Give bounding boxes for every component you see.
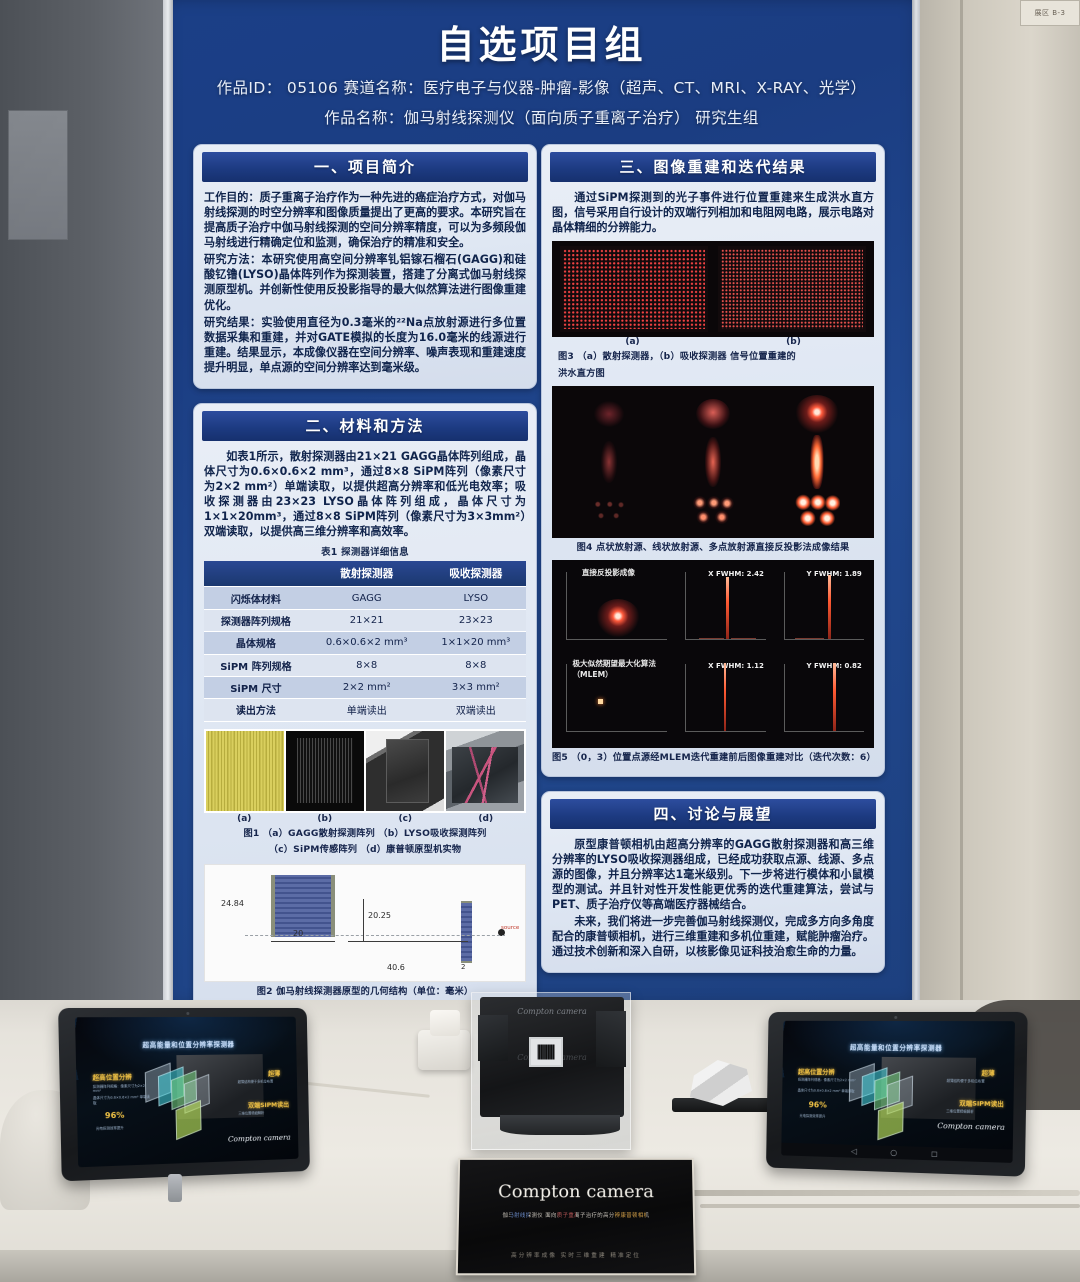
detector-window (529, 1037, 563, 1067)
detector-stack-graphic (145, 1060, 239, 1123)
th-2: 吸收探测器 (426, 561, 526, 587)
slide-label-right-bottom: 双端SiPM读出 (959, 1098, 1004, 1108)
bp-multi-high (767, 487, 868, 532)
prototype-display-case: Compton camera Compton camera (471, 992, 631, 1150)
tablet-stand-neck (168, 1174, 182, 1202)
cell-absorb: 1×1×20 mm³ (426, 632, 526, 654)
bp-x-fwhm: X FWHM: 2.42 (708, 570, 764, 578)
table-row: SiPM 尺寸 2×2 mm² 3×3 mm² (204, 676, 526, 698)
bp-x-profile-cell: X FWHM: 2.42 (675, 564, 771, 652)
section-one-p1: 工作目的：质子重离子治疗作为一种先进的癌症治疗方式，对伽马射线探测的时空分辨率和… (204, 190, 526, 250)
cell-absorb: 双端读出 (426, 699, 526, 721)
profile-peak (833, 663, 835, 731)
profile-peak (724, 663, 726, 731)
table-head: 散射探测器 吸收探测器 (204, 561, 526, 587)
panel-label-b: (b) (713, 337, 874, 347)
poster-frame-left (163, 0, 173, 1008)
camera-dot (894, 1016, 897, 1019)
section-four-heading: 四、讨论与展望 (550, 799, 876, 829)
wall-panel (8, 110, 68, 240)
figure5-row-mlem: 极大似然期望最大化算法 （MLEM） X FWHM: 1.12 (556, 656, 870, 744)
mlem-x-profile-cell: X FWHM: 1.12 (675, 656, 771, 744)
photo-sipm-array (366, 731, 444, 811)
table-row: 读出方法 单端读出 双端读出 (204, 699, 526, 721)
figure3-panel-labels: (a) (b) (552, 337, 874, 347)
poster-title: 自选项目组 (163, 14, 920, 69)
table-row: 晶体规格 0.6×0.6×2 mm³ 1×1×20 mm³ (204, 632, 526, 654)
photo-gagg-array (206, 731, 284, 811)
cell-scatter: 2×2 mm² (308, 676, 426, 698)
tablet-right[interactable]: 超高能量和位置分辨率探测器 超高位置分辨 探测器阵列规格：像素尺寸为2×2 mm… (766, 1012, 1028, 1177)
back-icon[interactable]: ◁ (851, 1147, 857, 1156)
x-axis (784, 731, 864, 732)
figure1-panel-labels: (a) (b) (c) (d) (204, 814, 526, 824)
th-0 (204, 561, 308, 587)
x-axis (685, 639, 765, 640)
x-axis (685, 731, 765, 732)
y-axis (784, 664, 785, 732)
dim-absorber-thickness: 2 (461, 963, 465, 971)
figure3-flood-histograms (552, 241, 874, 337)
dim-line-offset (363, 899, 364, 941)
panel-label-c: (c) (365, 814, 446, 824)
slide-sub-left-1: 探测器阵列规格：像素尺寸为2×2 mm² (798, 1078, 856, 1083)
section-one-p3: 研究结果：实验使用直径为0.3毫米的²²Na点放射源进行多位置数据采集和重建，并… (204, 315, 526, 375)
prototype-brand-top: Compton camera (480, 1007, 624, 1016)
cell-label: 晶体规格 (204, 632, 308, 654)
slide-sub-left-1: 探测器阵列规格：像素尺寸为2×2 mm² (93, 1083, 152, 1094)
slide-label-left: 超高位置分辨 (798, 1067, 835, 1076)
slide-percent: 96% (808, 1101, 826, 1110)
power-adapter-small (430, 1010, 460, 1036)
figure1-caption-line2: （c）SiPM传感阵列 （d）康普顿原型机实物 (204, 843, 526, 856)
slide-brand: Compton camera (937, 1121, 1005, 1132)
cell-scatter: 21×21 (308, 609, 426, 631)
bp-image-cell: 直接反投影成像 (556, 564, 673, 652)
slide-sub-left-2: 晶体尺寸为0.6×0.6×2 mm³ 单端读取 (93, 1095, 152, 1106)
slide-percent: 96% (105, 1111, 125, 1121)
table-row: 闪烁体材料 GAGG LYSO (204, 587, 526, 609)
axis-dash (245, 935, 505, 936)
figure3-caption-line2: 洪水直方图 (552, 367, 874, 380)
section-one-body: 工作目的：质子重离子治疗作为一种先进的癌症治疗方式，对伽马射线探测的时空分辨率和… (204, 190, 526, 375)
section-four-panel: 四、讨论与展望 原型康普顿相机由超高分辨率的GAGG散射探测器和高三维分辨率的L… (541, 791, 885, 974)
compton-camera-prototype: Compton camera Compton camera (480, 997, 624, 1117)
section-one-panel: 一、项目简介 工作目的：质子重离子治疗作为一种先进的癌症治疗方式，对伽马射线探测… (193, 144, 537, 389)
x-axis (566, 639, 667, 640)
slide-sub-left-2: 晶体尺寸为0.6×0.6×2 mm³ 单端读取 (798, 1088, 856, 1094)
y-axis (784, 572, 785, 640)
camera-dot (186, 1012, 189, 1015)
slide-sub-right-top: 超薄结构便于多机位布置 (947, 1078, 1005, 1084)
tablet-left[interactable]: 超高能量和位置分辨率探测器 超高位置分辨 探测器阵列规格：像素尺寸为2×2 mm… (58, 1008, 310, 1181)
profile-tail (795, 638, 824, 639)
bp-line-high (767, 440, 868, 485)
dim-distance: 40.6 (387, 963, 405, 972)
figure1-photos (204, 729, 526, 813)
bp-multi-low (558, 487, 659, 532)
table-header-row: 散射探测器 吸收探测器 (204, 561, 526, 587)
section-three-p1: 通过SiPM探测到的光子事件进行位置重建来生成洪水直方图，信号采用自行设计的双端… (552, 190, 874, 235)
slide-sub-right-bottom: 三维位置精细解析 (238, 1111, 289, 1117)
figure3-caption-line1: 图3 （a）散射探测器，（b）吸收探测器 信号位置重建的 (552, 350, 874, 363)
sipm-chip (538, 1045, 555, 1060)
table-row: SiPM 阵列规格 8×8 8×8 (204, 654, 526, 676)
detector-stack-graphic (849, 1062, 947, 1122)
section-three-panel: 三、图像重建和迭代结果 通过SiPM探测到的光子事件进行位置重建来生成洪水直方图… (541, 144, 885, 777)
poster-frame-right (912, 0, 920, 1008)
table-row: 探测器阵列规格 21×21 23×23 (204, 609, 526, 631)
cell-label: 读出方法 (204, 699, 308, 721)
detector-spec-table: 散射探测器 吸收探测器 闪烁体材料 GAGG LYSO 探测器阵列规格 21×2… (204, 561, 526, 721)
slide-label-right-top: 超薄 (981, 1068, 994, 1077)
bp-line-mid (662, 440, 763, 485)
bp-point-image (596, 599, 640, 637)
nameplate-title: Compton camera (459, 1181, 692, 1202)
section-two-panel: 二、材料和方法 如表1所示，散射探测器由21×21 GAGG晶体阵列组成，晶体尺… (193, 403, 537, 1077)
poster-board: 自选项目组 作品ID： 05106 赛道名称：医疗电子与仪器-肿瘤-影像（超声、… (163, 0, 920, 1008)
cell-scatter: 8×8 (308, 654, 426, 676)
y-axis (685, 572, 686, 640)
section-four-p2: 未来，我们将进一步完善伽马射线探测仪，完成多方向多角度配合的康普顿相机，进行三维… (552, 914, 874, 959)
tablet-right-screen[interactable]: 超高能量和位置分辨率探测器 超高位置分辨 探测器阵列规格：像素尺寸为2×2 mm… (781, 1021, 1015, 1163)
section-one-p2: 研究方法：本研究使用高空间分辨率钆铝镓石榴石(GAGG)和硅酸钇镥(LYSO)晶… (204, 252, 526, 312)
figure4-caption: 图4 点状放射源、线状放射源、多点放射源直接反投影法成像结果 (552, 541, 874, 554)
bp-y-fwhm: Y FWHM: 1.89 (806, 570, 861, 578)
poster-column-right: 三、图像重建和迭代结果 通过SiPM探测到的光子事件进行位置重建来生成洪水直方图… (541, 144, 885, 987)
y-axis (566, 664, 567, 732)
bp-line-low (558, 440, 659, 485)
mlem-point-image (598, 699, 603, 704)
y-axis (566, 572, 567, 640)
section-two-heading: 二、材料和方法 (202, 411, 528, 441)
cell-label: 探测器阵列规格 (204, 609, 308, 631)
nameplate-subtitle: 伽马射线探测仪 面向质子重离子治疗的高分辨康普顿相机 (459, 1211, 693, 1219)
nameplate-footer: 高分辨率成像 实时三维重建 精准定位 (458, 1251, 694, 1259)
cell-scatter: 单端读出 (308, 699, 426, 721)
profile-tail (731, 638, 756, 639)
panel-label-a: (a) (204, 814, 285, 824)
cell-absorb: LYSO (426, 587, 526, 609)
table-caption: 表1 探测器详细信息 (204, 544, 526, 558)
desk-rail (680, 1190, 1080, 1196)
bp-point-low (558, 392, 659, 437)
cell-absorb: 23×23 (426, 609, 526, 631)
cell-scatter: GAGG (308, 587, 426, 609)
profile-tail (699, 638, 724, 639)
dim-line-distance (348, 941, 468, 942)
slide-percent-sub: 光电探测效率提升 (96, 1125, 155, 1131)
figure5-row2-title-2: （MLEM） (572, 670, 612, 679)
mlem-image-cell: 极大似然期望最大化算法 （MLEM） (556, 656, 673, 744)
bp-multi-mid (662, 487, 763, 532)
figure1-caption-line1: 图1 （a）GAGG散射探测阵列 （b）LYSO吸收探测阵列 (204, 827, 526, 840)
bp-y-profile-cell: Y FWHM: 1.89 (774, 564, 870, 652)
profile-peak (726, 577, 729, 639)
poster-subline-name: 作品名称：伽马射线探测仪（面向质子重离子治疗） 研究生组 (163, 106, 920, 128)
figure5-row1-title: 直接反投影成像 (582, 567, 635, 578)
absorber-detector-shape (461, 901, 472, 963)
flood-histogram-scatter (560, 246, 708, 332)
figure5-caption: 图5 （0，3）位置点源经MLEM迭代重建前后图像重建对比（迭代次数：6） (552, 751, 874, 764)
dim-scatter-height: 24.84 (221, 899, 244, 908)
power-adapter (418, 1030, 470, 1070)
cell-absorb: 8×8 (426, 654, 526, 676)
figure2-schematic: source 24.84 20 20.25 40.6 2 (204, 864, 526, 982)
dim-offset: 20.25 (368, 911, 391, 920)
source-label: source (501, 925, 519, 931)
slide-label-right-top: 超薄 (268, 1068, 280, 1077)
right-wall (918, 0, 1080, 1010)
y-axis (685, 664, 686, 732)
profile-peak (828, 575, 831, 639)
poster-subline-track: 作品ID： 05106 赛道名称：医疗电子与仪器-肿瘤-影像（超声、CT、MRI… (163, 76, 920, 98)
cell-absorb: 3×3 mm² (426, 676, 526, 698)
bp-point-mid (662, 392, 763, 437)
exhibition-scene: 展区 B-3 自选项目组 作品ID： 05106 赛道名称：医疗电子与仪器-肿瘤… (0, 0, 1080, 1282)
slide-sub-right-top: 超薄结构便于多机位布置 (238, 1079, 289, 1084)
slide-percent-sub: 光电探测效率提升 (799, 1114, 857, 1120)
scatter-detector-shape (271, 875, 335, 937)
section-one-heading: 一、项目简介 (202, 152, 528, 182)
cell-label: 闪烁体材料 (204, 587, 308, 609)
dim-line-width (271, 941, 335, 942)
table-body: 闪烁体材料 GAGG LYSO 探测器阵列规格 21×21 23×23 晶体规格… (204, 587, 526, 721)
android-navbar[interactable]: ◁ ○ ◻ (781, 1143, 1013, 1163)
poster-column-left: 一、项目简介 工作目的：质子重离子治疗作为一种先进的癌症治疗方式，对伽马射线探测… (193, 144, 537, 1091)
section-four-body: 原型康普顿相机由超高分辨率的GAGG散射探测器和高三维分辨率的LYSO吸收探测器… (552, 837, 874, 960)
section-two-p1: 如表1所示，散射探测器由21×21 GAGG晶体阵列组成，晶体尺寸为0.6×0.… (204, 449, 526, 539)
tablet-left-screen[interactable]: 超高能量和位置分辨率探测器 超高位置分辨 探测器阵列规格：像素尺寸为2×2 mm… (75, 1017, 299, 1168)
figure4-backprojection-grid (552, 386, 874, 538)
slide-label-right-bottom: 双端SiPM读出 (248, 1099, 289, 1109)
x-axis (784, 639, 864, 640)
section-three-heading: 三、图像重建和迭代结果 (550, 152, 876, 182)
slide-label-left: 超高位置分辨 (92, 1072, 131, 1082)
recents-icon[interactable]: ◻ (931, 1149, 938, 1158)
mlem-y-profile-cell: Y FWHM: 0.82 (774, 656, 870, 744)
section-four-p1: 原型康普顿相机由超高分辨率的GAGG散射探测器和高三维分辨率的LYSO吸收探测器… (552, 837, 874, 912)
figure5-mlem-comparison: 直接反投影成像 X FWHM: 2.42 (552, 560, 874, 748)
photo-prototype (446, 731, 524, 811)
bp-point-high (767, 392, 868, 437)
panel-label-d: (d) (446, 814, 527, 824)
figure5-row2-title-1: 极大似然期望最大化算法 (572, 659, 656, 668)
flood-histogram-absorber (718, 246, 866, 332)
figure5-row-backprojection: 直接反投影成像 X FWHM: 2.42 (556, 564, 870, 652)
th-1: 散射探测器 (308, 561, 426, 587)
mlem-x-fwhm: X FWHM: 1.12 (708, 662, 764, 670)
exhibit-nameplate: Compton camera 伽马射线探测仪 面向质子重离子治疗的高分辨康普顿相… (456, 1158, 696, 1275)
cell-scatter: 0.6×0.6×2 mm³ (308, 632, 426, 654)
cell-label: SiPM 阵列规格 (204, 654, 308, 676)
desk-rail-secondary (700, 1204, 1080, 1208)
photo-lyso-array (286, 731, 364, 811)
panel-label-b: (b) (285, 814, 366, 824)
dim-scatter-width: 20 (293, 929, 303, 938)
prototype-base (500, 1115, 620, 1135)
slide-brand: Compton camera (228, 1133, 291, 1144)
cell-label: SiPM 尺寸 (204, 676, 308, 698)
corner-sign: 展区 B-3 (1020, 0, 1080, 26)
panel-label-a: (a) (552, 337, 713, 347)
wall-seam (960, 0, 963, 1010)
left-wall (0, 0, 170, 1010)
slide-title: 超高能量和位置分辨率探测器 (783, 1041, 1015, 1053)
home-icon[interactable]: ○ (890, 1148, 897, 1157)
x-axis (566, 731, 667, 732)
